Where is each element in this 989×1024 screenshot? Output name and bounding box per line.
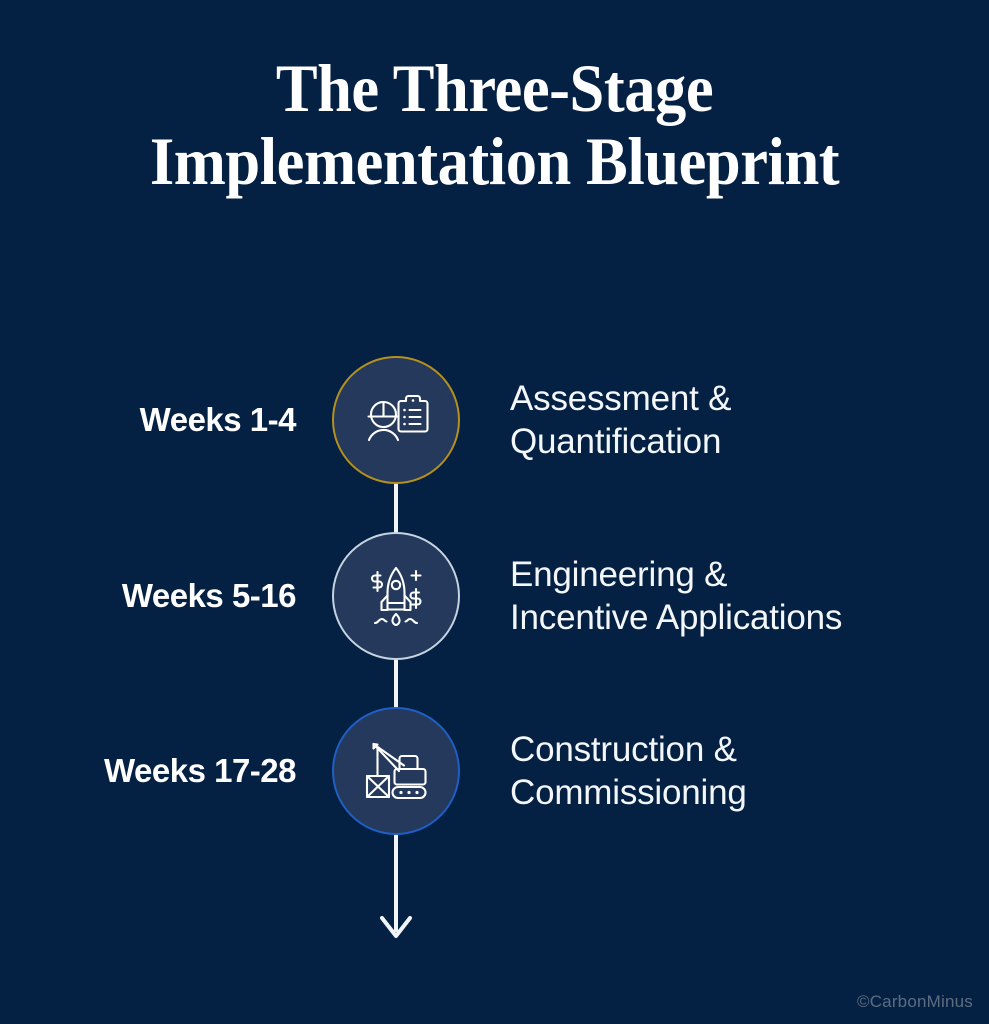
page-title: The Three-Stage Implementation Blueprint <box>0 52 989 199</box>
timeline: Weeks 1-4 <box>0 340 989 920</box>
stage-2-icon-circle <box>332 532 460 660</box>
watermark: ©CarbonMinus <box>857 992 973 1012</box>
arrow-down-icon <box>374 910 418 942</box>
stage-1-label-line-2: Quantification <box>510 420 940 463</box>
stage-1-label-line-1: Assessment & <box>510 377 940 420</box>
timeline-stage-1: Weeks 1-4 <box>0 354 989 486</box>
timeline-stage-2: Weeks 5-16 <box>0 530 989 662</box>
title-line-2: Implementation Blueprint <box>40 125 950 198</box>
stage-2-label-line-1: Engineering & <box>510 553 940 596</box>
stage-3-period: Weeks 17-28 <box>0 705 296 837</box>
hardhat-worker-clipboard-icon <box>359 383 433 457</box>
timeline-stage-3: Weeks 17-28 <box>0 705 989 837</box>
stage-3-label: Construction & Commissioning <box>510 705 940 837</box>
title-line-1: The Three-Stage <box>40 52 950 125</box>
stage-3-label-line-2: Commissioning <box>510 771 940 814</box>
crane-excavator-icon <box>359 734 433 808</box>
stage-3-icon-circle <box>332 707 460 835</box>
stage-3-label-line-1: Construction & <box>510 728 940 771</box>
stage-2-label-line-2: Incentive Applications <box>510 596 940 639</box>
stage-2-period: Weeks 5-16 <box>0 530 296 662</box>
stage-2-label: Engineering & Incentive Applications <box>510 530 940 662</box>
stage-1-label: Assessment & Quantification <box>510 354 940 486</box>
stage-1-period: Weeks 1-4 <box>0 354 296 486</box>
stage-1-icon-circle <box>332 356 460 484</box>
infographic-canvas: The Three-Stage Implementation Blueprint… <box>0 0 989 1024</box>
rocket-dollar-icon <box>359 559 433 633</box>
